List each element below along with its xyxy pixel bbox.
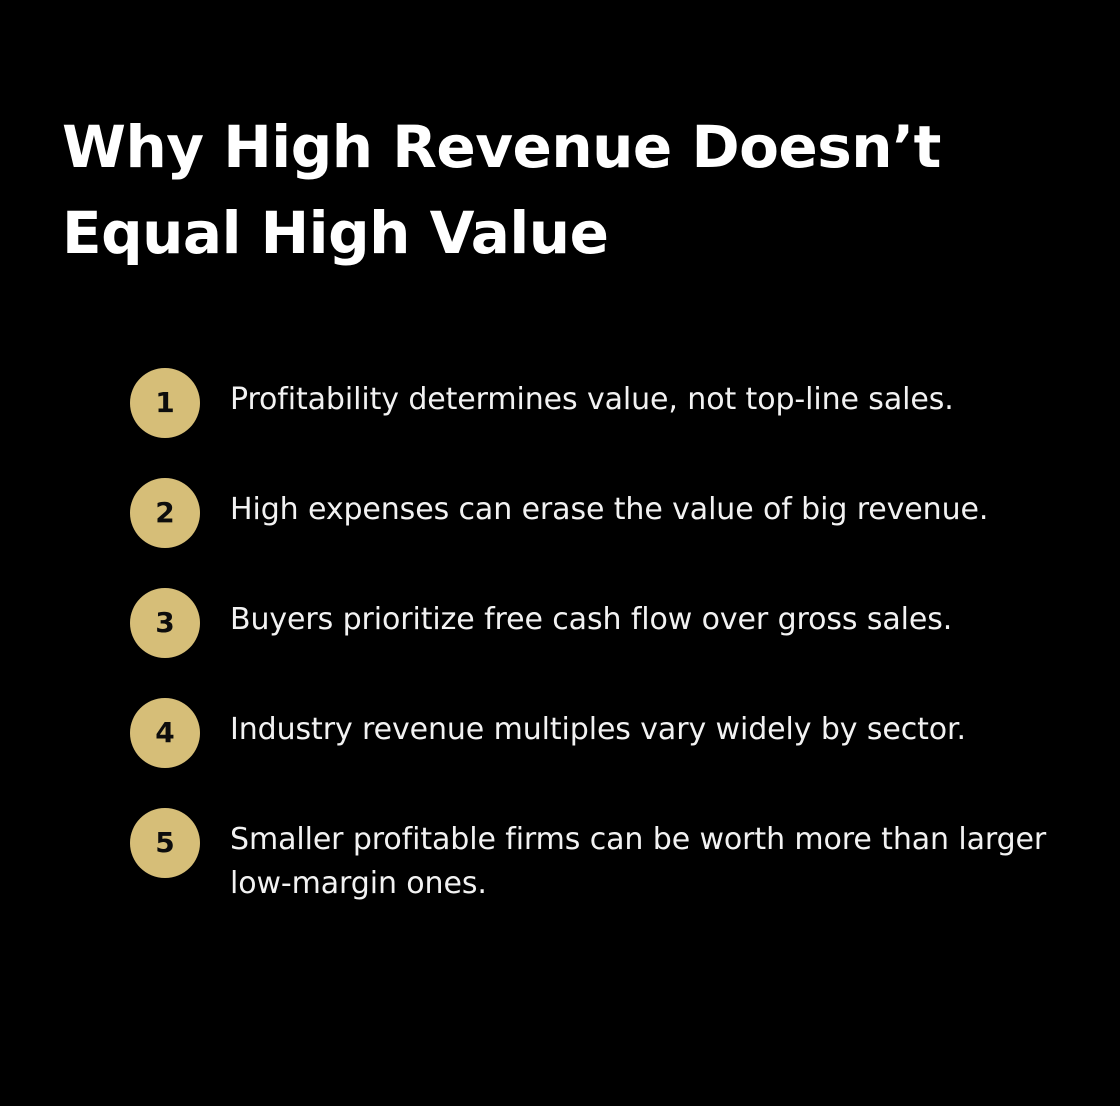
list-item-number-badge: 3 — [130, 588, 200, 658]
list-item-number-badge: 5 — [130, 808, 200, 878]
list-item: 1 Profitability determines value, not to… — [130, 368, 1090, 438]
numbered-list: 1 Profitability determines value, not to… — [130, 368, 1090, 906]
list-item-number-badge: 4 — [130, 698, 200, 768]
list-item-text: Buyers prioritize free cash flow over gr… — [230, 588, 1090, 642]
list-item: 2 High expenses can erase the value of b… — [130, 478, 1090, 548]
list-item: 5 Smaller profitable firms can be worth … — [130, 808, 1090, 906]
page-title: Why High Revenue Doesn’t Equal High Valu… — [62, 104, 962, 276]
list-item-text: Smaller profitable firms can be worth mo… — [230, 808, 1090, 906]
slide-root: Why High Revenue Doesn’t Equal High Valu… — [0, 0, 1120, 1106]
list-item: 3 Buyers prioritize free cash flow over … — [130, 588, 1090, 658]
list-item-text: Profitability determines value, not top-… — [230, 368, 1090, 422]
list-item-number-badge: 2 — [130, 478, 200, 548]
list-item: 4 Industry revenue multiples vary widely… — [130, 698, 1090, 768]
list-item-text: Industry revenue multiples vary widely b… — [230, 698, 1090, 752]
list-item-text: High expenses can erase the value of big… — [230, 478, 1090, 532]
list-item-number-badge: 1 — [130, 368, 200, 438]
